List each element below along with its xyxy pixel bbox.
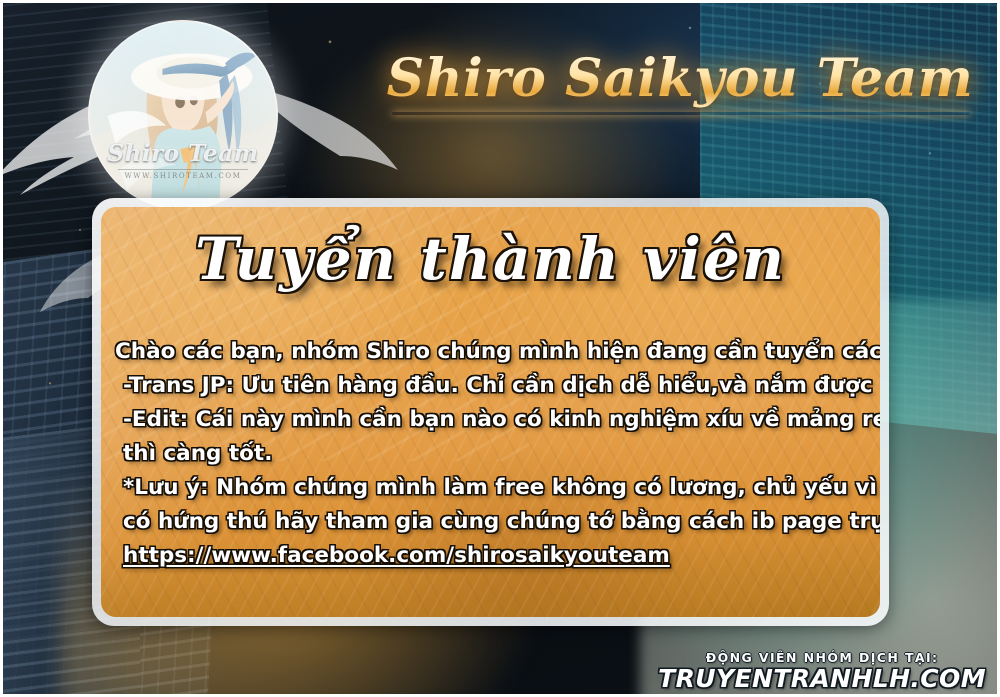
recruitment-body: Chào các bạn, nhóm Shiro chúng mình hiện… <box>115 335 866 573</box>
body-line: -Edit: Cái này mình cần bạn nào có kinh … <box>115 403 866 437</box>
body-line: thì càng tốt. <box>115 437 866 471</box>
panel-heading: Tuyển thành viên <box>101 225 880 293</box>
footer-credit: ĐỘNG VIÊN NHÓM DỊCH TẠI: TRUYENTRANHLH.C… <box>658 650 986 693</box>
facebook-link[interactable]: https://www.facebook.com/shirosaikyoutea… <box>115 539 866 573</box>
team-logo: Shiro Team WWW.SHIROTEAM.COM <box>88 20 278 210</box>
logo-subtitle: WWW.SHIROTEAM.COM <box>90 172 276 180</box>
logo-overlay-haze <box>90 22 276 208</box>
logo-name: Shiro Team <box>90 140 276 167</box>
recruitment-panel: Tuyển thành viên Chào các bạn, nhóm Shir… <box>92 198 889 626</box>
footer-credit-label: ĐỘNG VIÊN NHÓM DỊCH TẠI: <box>658 650 986 665</box>
logo-divider <box>118 169 248 170</box>
body-line: có hứng thú hãy tham gia cùng chúng tớ b… <box>115 505 866 539</box>
page-title: Shiro Saikyou Team <box>380 48 980 109</box>
body-line: Chào các bạn, nhóm Shiro chúng mình hiện… <box>115 335 866 369</box>
body-line: -Trans JP: Ưu tiên hàng đầu. Chỉ cần dịc… <box>115 369 866 403</box>
title-underline <box>392 112 970 115</box>
footer-site-name: TRUYENTRANHLH.COM <box>658 664 986 693</box>
body-line: *Lưu ý: Nhóm chúng mình làm free không c… <box>115 471 866 505</box>
poster-canvas: Shiro Team WWW.SHIROTEAM.COM Shiro Saiky… <box>0 0 1000 697</box>
